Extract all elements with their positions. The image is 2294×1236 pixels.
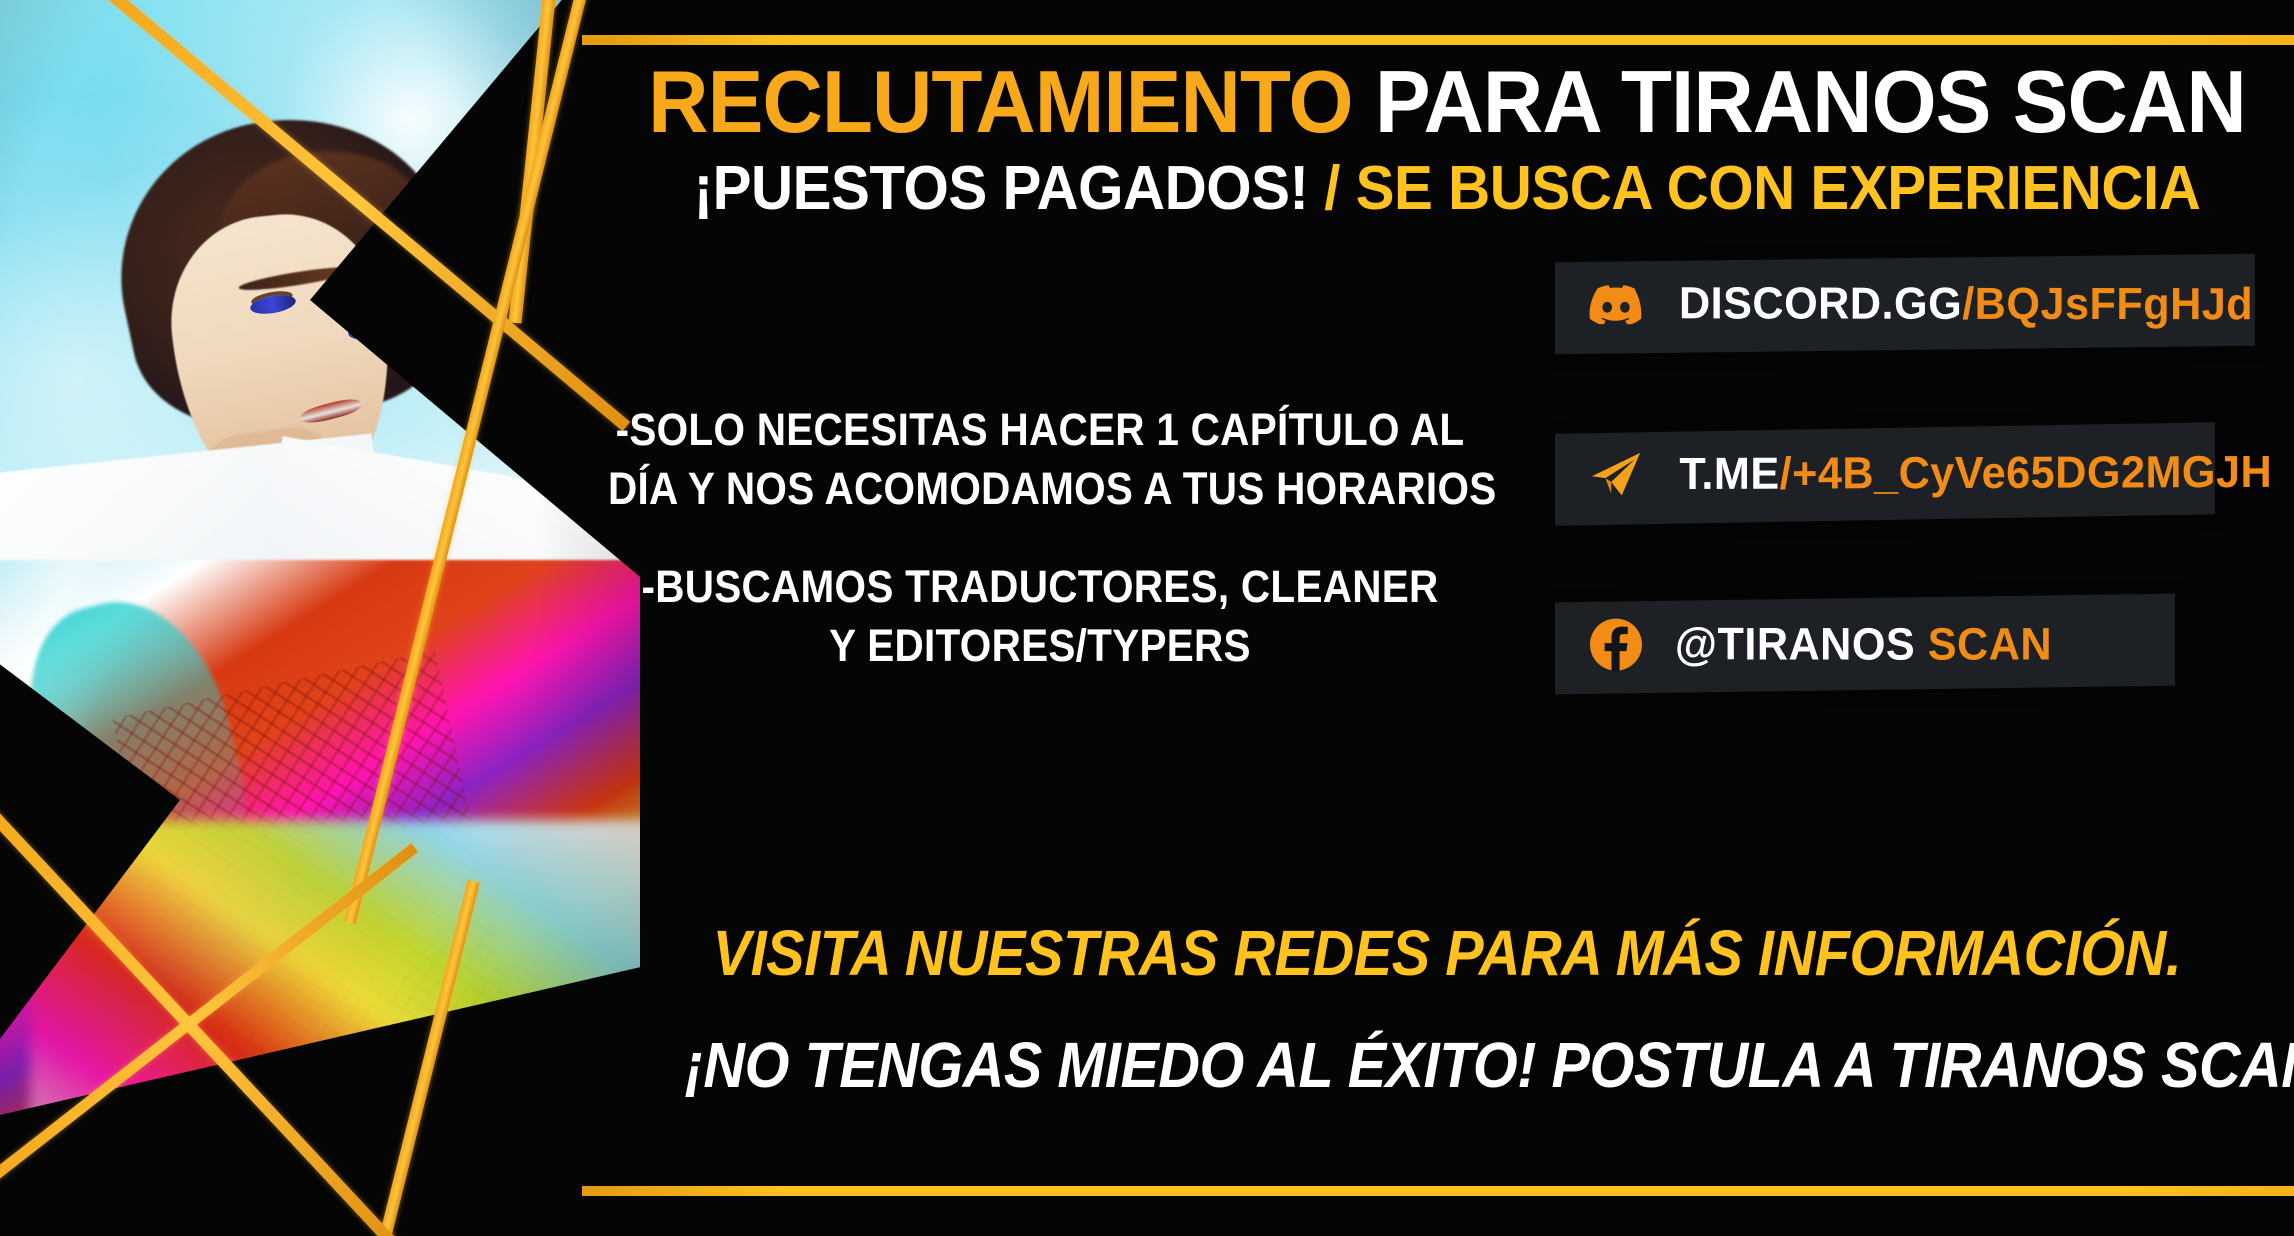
discord-icon — [1589, 276, 1643, 330]
title-rest: PARA TIRANOS SCAN — [1353, 52, 2246, 151]
content-panel: RECLUTAMIENTO PARA TIRANOS SCAN ¡PUESTOS… — [600, 0, 2294, 1236]
facebook-handle-text: @TIRANOS SCAN — [1675, 619, 2052, 671]
discord-domain: DISCORD.GG — [1679, 277, 1962, 328]
requirement-roles-line2: Y EDITORES/TYPERS — [608, 616, 1472, 675]
facebook-icon — [1589, 618, 1643, 672]
telegram-icon — [1589, 447, 1643, 501]
requirement-schedule: -SOLO NECESITAS HACER 1 CAPÍTULO AL DÍA … — [608, 400, 1472, 519]
recruitment-banner: RECLUTAMIENTO PARA TIRANOS SCAN ¡PUESTOS… — [0, 0, 2294, 1236]
requirement-roles: -BUSCAMOS TRADUCTORES, CLEANER Y EDITORE… — [608, 557, 1472, 676]
subtitle-experience: / SE BUSCA CON EXPERIENCIA — [1308, 154, 2200, 223]
title-highlight: RECLUTAMIENTO — [648, 52, 1352, 151]
facebook-handle: @TIRANOS — [1675, 619, 1915, 670]
subtitle-paid: ¡PUESTOS PAGADOS! — [694, 154, 1309, 223]
page-subtitle: ¡PUESTOS PAGADOS! / SE BUSCA CON EXPERIE… — [651, 158, 2243, 220]
discord-link-text: DISCORD.GG/BQJsFFgHJd — [1679, 277, 2253, 330]
telegram-invite-code: +4B_CyVe65DG2MGJH — [1792, 446, 2272, 499]
character-artwork — [0, 0, 640, 1236]
contact-facebook[interactable]: @TIRANOS SCAN — [1555, 594, 2175, 695]
divider-bottom — [582, 1186, 2294, 1196]
facebook-separator — [1915, 619, 1927, 670]
facebook-handle-suffix: SCAN — [1928, 619, 2052, 670]
divider-top — [582, 35, 2294, 45]
cta-line-1: VISITA NUESTRAS REDES PARA MÁS INFORMACI… — [685, 920, 2210, 988]
telegram-domain: T.ME — [1679, 448, 1779, 499]
cta-line-2: ¡NO TENGAS MIEDO AL ÉXITO! POSTULA A TIR… — [685, 1032, 2210, 1100]
contact-discord[interactable]: DISCORD.GG/BQJsFFgHJd — [1555, 254, 2255, 355]
contact-list: DISCORD.GG/BQJsFFgHJd T.ME/+4B_CyVe65DG2… — [1555, 258, 2255, 768]
contact-telegram[interactable]: T.ME/+4B_CyVe65DG2MGJH — [1555, 422, 2215, 526]
page-title: RECLUTAMIENTO PARA TIRANOS SCAN — [642, 58, 2251, 146]
discord-invite-code: BQJsFFgHJd — [1975, 278, 2253, 329]
discord-separator: / — [1962, 278, 1974, 329]
telegram-separator: / — [1780, 448, 1792, 499]
call-to-action: VISITA NUESTRAS REDES PARA MÁS INFORMACI… — [600, 920, 2294, 1100]
requirement-schedule-line1: -SOLO NECESITAS HACER 1 CAPÍTULO AL — [608, 400, 1472, 459]
requirements-text: -SOLO NECESITAS HACER 1 CAPÍTULO AL DÍA … — [608, 400, 1472, 676]
requirement-roles-line1: -BUSCAMOS TRADUCTORES, CLEANER — [608, 557, 1472, 616]
telegram-link-text: T.ME/+4B_CyVe65DG2MGJH — [1679, 446, 2272, 500]
requirement-schedule-line2: DÍA Y NOS ACOMODAMOS A TUS HORARIOS — [608, 459, 1472, 518]
